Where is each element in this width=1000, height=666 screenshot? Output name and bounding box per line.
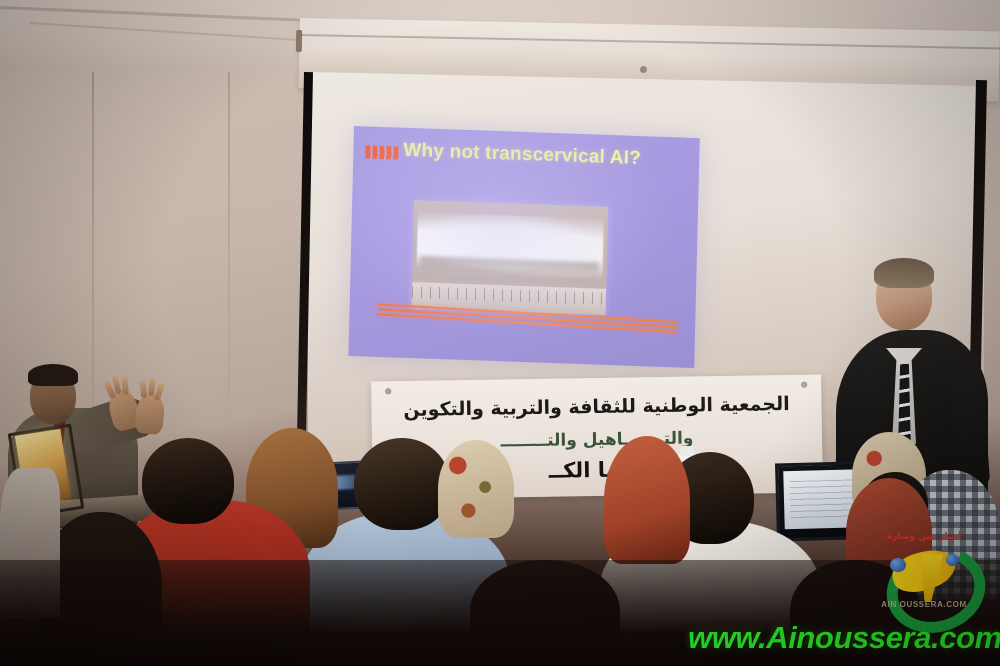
watermark-url: www.Ainoussera.com (688, 620, 1000, 656)
wall-corner-seam (92, 18, 94, 448)
red-hoodie-attendee-head (142, 438, 234, 524)
banner-line-2: والتـــــــاهيل والتــــــــ (372, 426, 822, 453)
logo-latin-text: AIN OUSSERA.COM (872, 600, 976, 609)
projector-screen-bracket (296, 30, 302, 52)
blue-shirt-attendee-head (354, 438, 450, 530)
photo-canvas: Why not transcervical AI? الجمعية الوطني… (0, 0, 1000, 666)
logo-blue-dot-icon (946, 554, 959, 566)
logo-arabic-text: أخبار عين وسارة (872, 532, 976, 542)
floral-hijab-attendee (438, 440, 514, 538)
left-speaker-hair (28, 364, 78, 386)
water-bottle-cap (680, 446, 694, 456)
slide-title: Why not transcervical AI? (403, 140, 641, 170)
presenter-hair (874, 258, 934, 288)
banner-line-1: الجمعية الوطنية للثقافة والتربية والتكوي… (371, 392, 821, 421)
rust-hijab-attendee (604, 436, 690, 564)
banner-grommet (801, 382, 807, 388)
slide-photo (412, 200, 609, 315)
projector-screen-screw (640, 66, 647, 73)
ainoussera-logo: أخبار عين وسارة AIN OUSSERA.COM (872, 530, 976, 618)
banner-grommet (385, 388, 391, 394)
wall-panel-seam (228, 62, 230, 422)
projected-slide: Why not transcervical AI? (348, 126, 699, 368)
ruler-tick-marks (412, 286, 606, 305)
logo-blue-dot-icon (890, 558, 906, 572)
slide-bullet-mark-icon (365, 145, 399, 159)
